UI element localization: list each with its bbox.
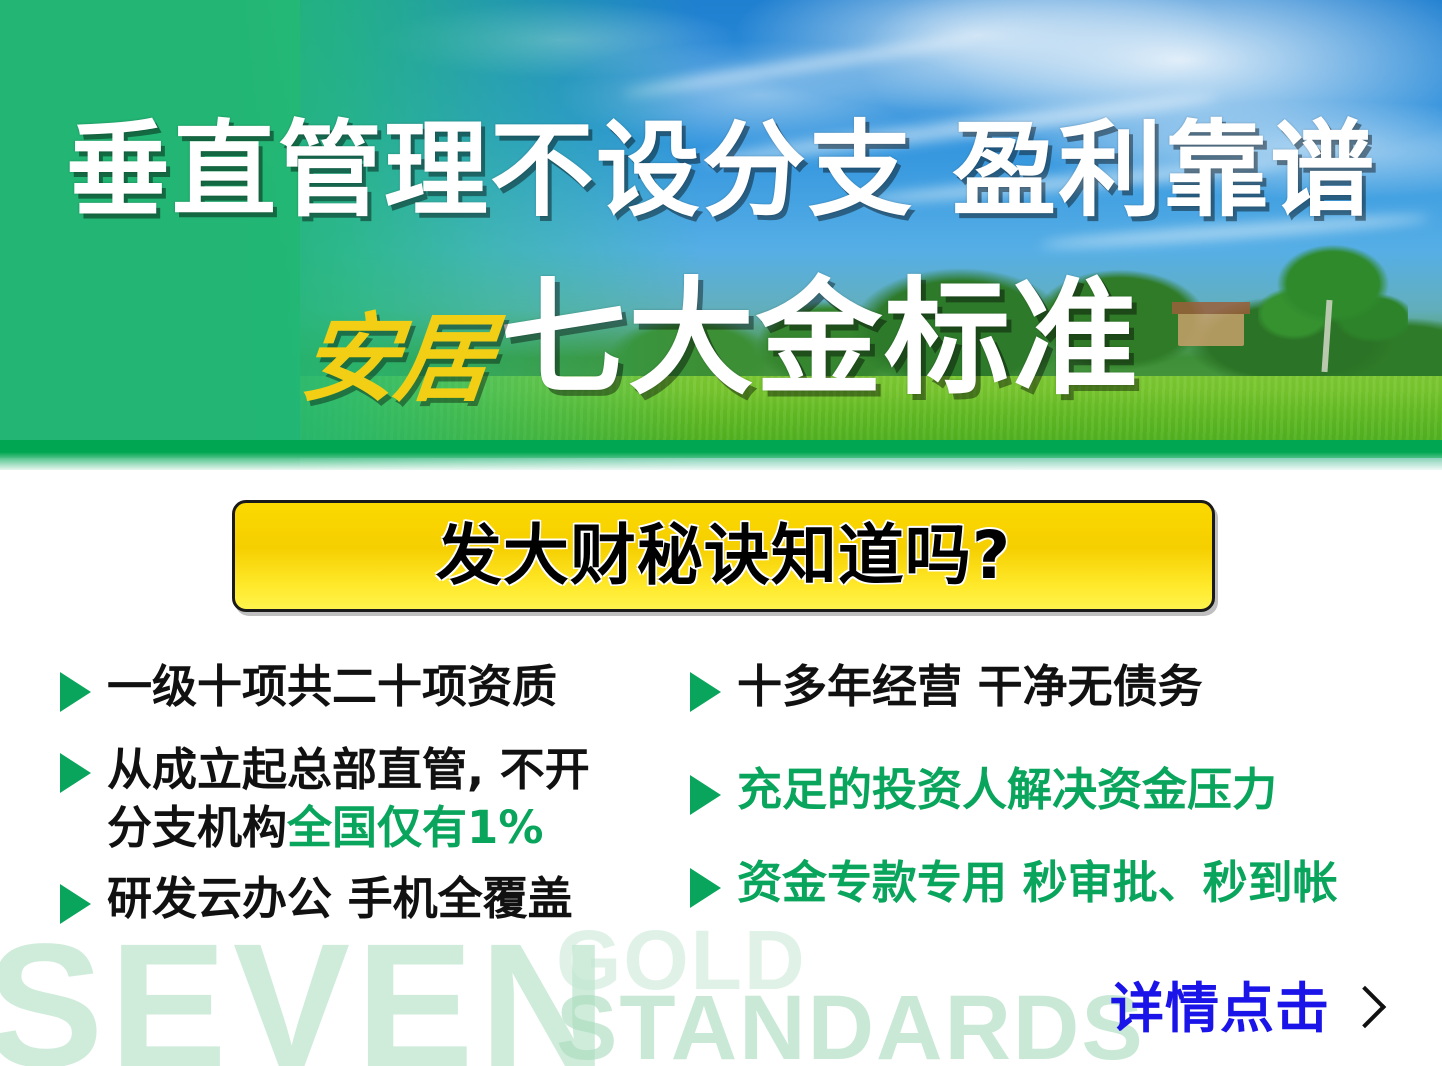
- triangle-bullet-icon: [60, 672, 91, 712]
- feature-text: 充足的投资人解决资金压力: [737, 763, 1277, 818]
- hero-section: 垂直管理不设分支 盈利靠谱 安居七大金标准: [0, 0, 1442, 470]
- triangle-bullet-icon: [60, 884, 91, 924]
- feature-item: 充足的投资人解决资金压力: [690, 763, 1390, 818]
- feature-item: 十多年经营 干净无债务: [690, 660, 1390, 715]
- feature-text: 十多年经营 干净无债务: [737, 660, 1203, 715]
- detail-link[interactable]: 详情点击: [1110, 982, 1380, 1036]
- feature-column-left: 一级十项共二十项资质 从成立起总部直管, 不开 分支机构全国仅有1% 研发云办公…: [60, 660, 680, 949]
- hero-headline-primary: 垂直管理不设分支 盈利靠谱: [0, 118, 1442, 222]
- feature-item: 一级十项共二十项资质: [60, 660, 680, 715]
- feature-text: 一级十项共二十项资质: [107, 660, 557, 715]
- hero-headline-main: 七大金标准: [500, 276, 1140, 402]
- feature-item: 资金专款专用 秒审批、秒到帐: [690, 856, 1390, 911]
- detail-link-label: 详情点击: [1110, 982, 1330, 1036]
- promo-banner: 垂直管理不设分支 盈利靠谱 安居七大金标准 发大财秘诀知道吗? 一级十项共二十项…: [0, 0, 1442, 1066]
- watermark-standards: STANDARDS: [556, 982, 1145, 1066]
- feature-text: 资金专款专用 秒审批、秒到帐: [737, 856, 1338, 911]
- triangle-bullet-icon: [690, 775, 721, 815]
- question-cta-bar[interactable]: 发大财秘诀知道吗?: [232, 500, 1215, 612]
- hero-headline-secondary: 安居七大金标准: [0, 276, 1442, 407]
- feature-text-line1: 从成立起总部直管, 不开: [107, 743, 590, 796]
- triangle-bullet-icon: [60, 753, 91, 793]
- feature-column-right: 十多年经营 干净无债务 充足的投资人解决资金压力 资金专款专用 秒审批、秒到帐: [690, 660, 1390, 933]
- feature-text: 研发云办公 手机全覆盖: [107, 872, 573, 927]
- feature-item: 研发云办公 手机全覆盖: [60, 872, 680, 927]
- feature-text-line2-highlight: 全国仅有1%: [287, 801, 543, 854]
- feature-item: 从成立起总部直管, 不开 分支机构全国仅有1%: [60, 741, 680, 858]
- feature-text-line2-black: 分支机构: [107, 801, 287, 854]
- hero-fade-to-white: [0, 452, 1442, 470]
- triangle-bullet-icon: [690, 672, 721, 712]
- question-cta-label: 发大财秘诀知道吗?: [436, 523, 1011, 589]
- chevron-right-icon: [1344, 986, 1386, 1028]
- feature-columns: 一级十项共二十项资质 从成立起总部直管, 不开 分支机构全国仅有1% 研发云办公…: [0, 660, 1442, 990]
- hero-brand-word: 安居: [297, 311, 495, 407]
- triangle-bullet-icon: [690, 868, 721, 908]
- feature-text: 从成立起总部直管, 不开 分支机构全国仅有1%: [107, 741, 590, 858]
